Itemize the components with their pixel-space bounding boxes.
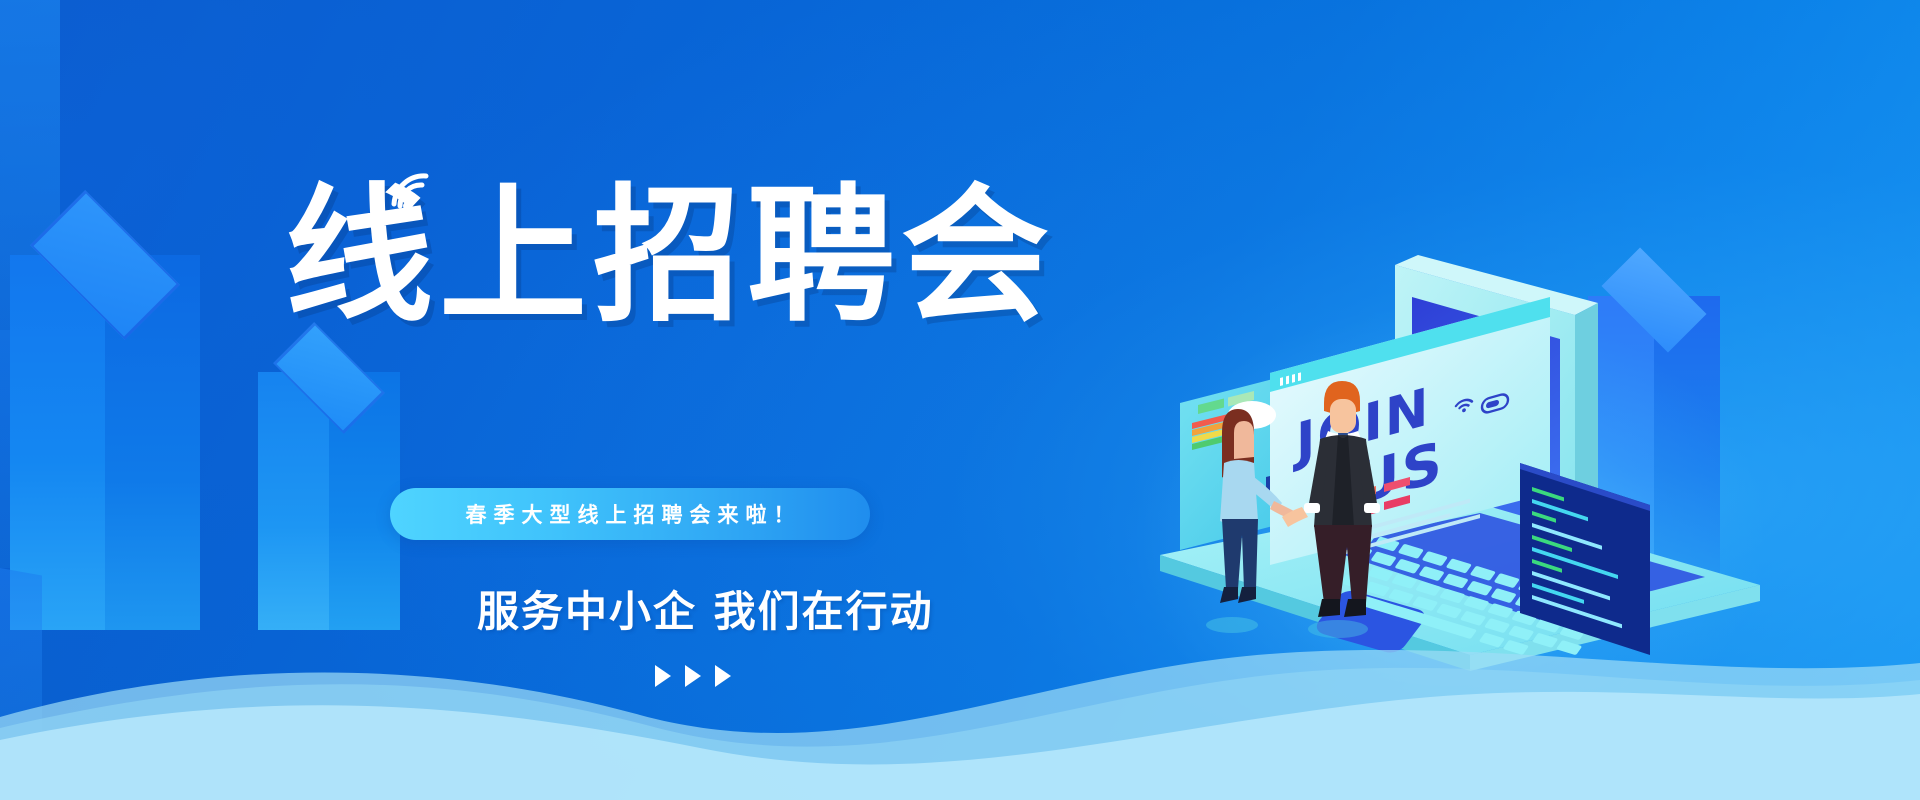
- subtitle-pill-label: 春季大型线上招聘会来啦！: [459, 499, 802, 529]
- subtitle-pill: 春季大型线上招聘会来啦！: [390, 488, 870, 540]
- play-arrow-icon: [655, 665, 671, 687]
- wave-front: [0, 590, 1920, 800]
- arrow-indicator-group: [655, 665, 731, 687]
- wifi-icon: [388, 170, 432, 212]
- play-arrow-icon: [715, 665, 731, 687]
- iso-block-large-left: [10, 200, 200, 630]
- iso-block-small-left: [258, 330, 400, 630]
- promo-banner: JOIN US: [0, 0, 1920, 800]
- tagline: 服务中小企 我们在行动: [477, 578, 934, 639]
- play-arrow-icon: [685, 665, 701, 687]
